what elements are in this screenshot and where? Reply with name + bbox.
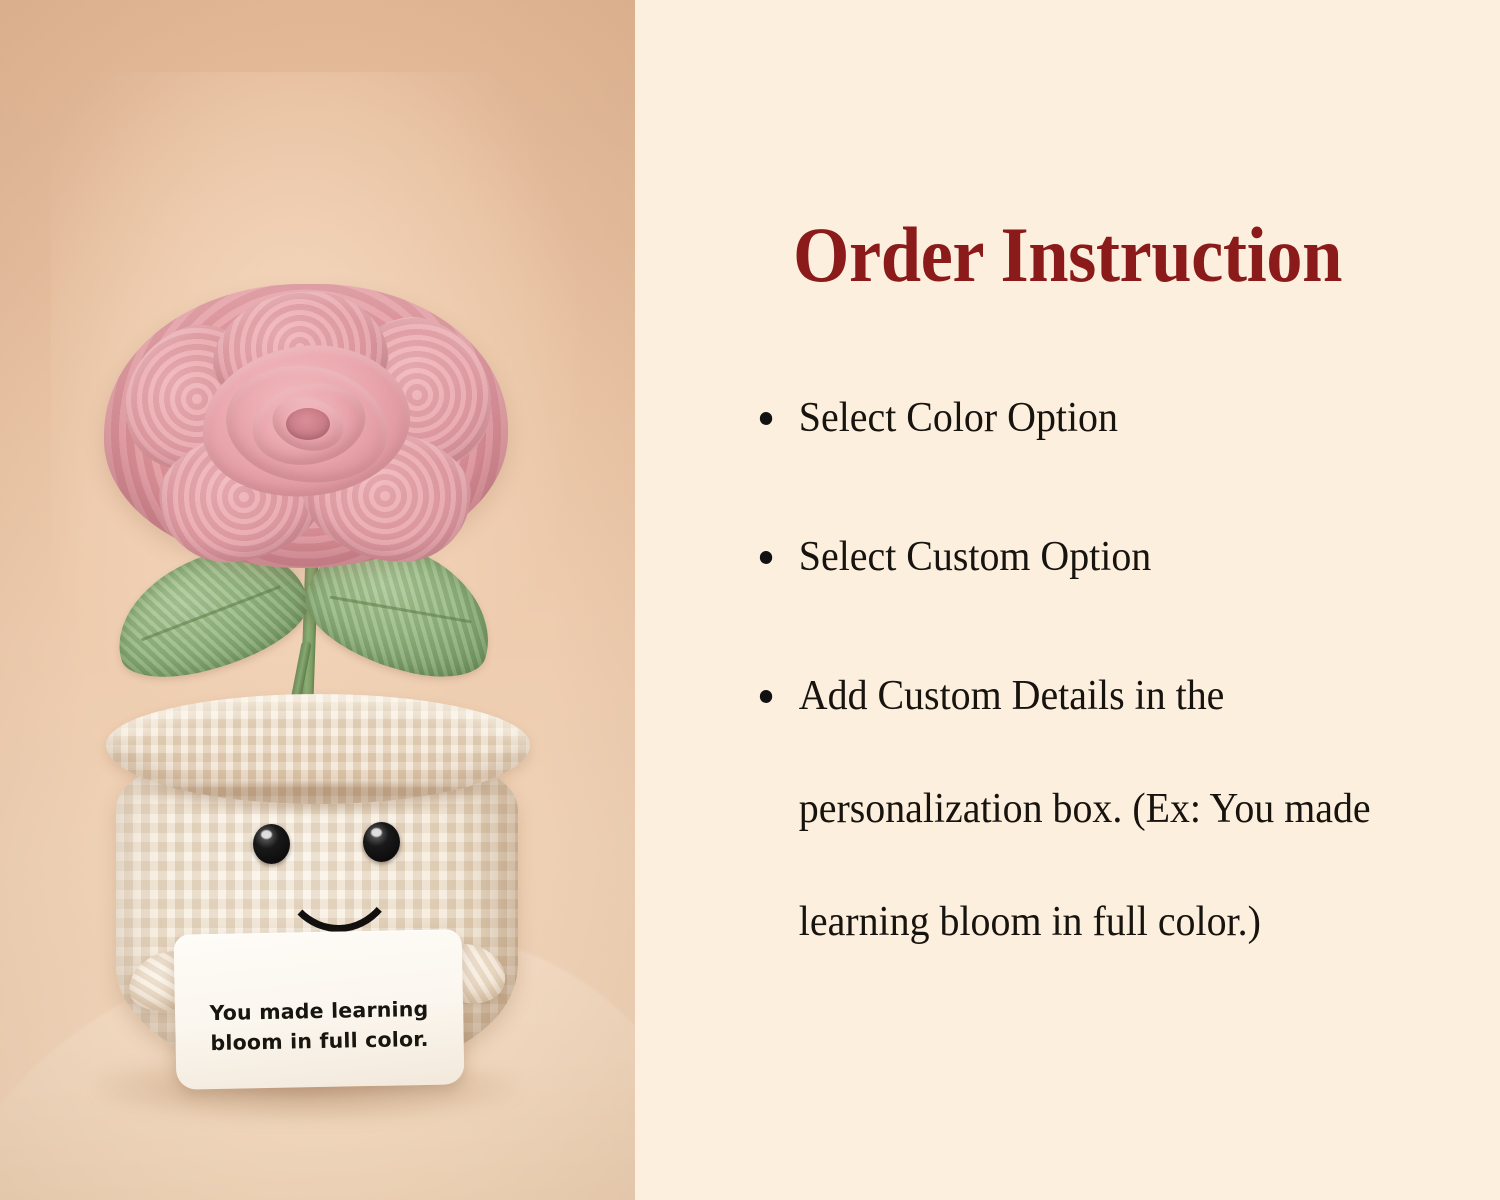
sign-text-line-2: bloom in full color. xyxy=(190,1024,449,1058)
crochet-plush: You made learning bloom in full color. xyxy=(0,0,635,1200)
leaf-vein xyxy=(140,585,280,641)
rose-center xyxy=(286,408,330,440)
instruction-list: Select Color Option Select Custom Option… xyxy=(719,362,1446,1005)
list-item: Select Color Option xyxy=(719,362,1410,475)
pot-rim-shadow xyxy=(110,782,526,812)
bullet-icon xyxy=(760,690,772,703)
list-item: Select Custom Option xyxy=(719,501,1410,614)
instruction-text: Select Color Option xyxy=(799,395,1118,441)
leaf-vein xyxy=(329,595,472,623)
rose-flower-icon xyxy=(104,284,508,568)
instruction-text: Select Custom Option xyxy=(799,534,1151,580)
product-photo: You made learning bloom in full color. xyxy=(0,0,635,1200)
list-item: Add Custom Details in the personalizatio… xyxy=(719,640,1410,979)
instruction-text: Add Custom Details in the personalizatio… xyxy=(799,673,1371,945)
product-listing-card: You made learning bloom in full color. O… xyxy=(0,0,1500,1200)
order-instruction-panel: Order Instruction Select Color Option Se… xyxy=(635,0,1500,1200)
bullet-icon xyxy=(760,412,772,425)
page-title: Order Instruction xyxy=(665,216,1469,294)
affirmation-sign-card: You made learning bloom in full color. xyxy=(174,929,465,1090)
bullet-icon xyxy=(760,551,772,564)
